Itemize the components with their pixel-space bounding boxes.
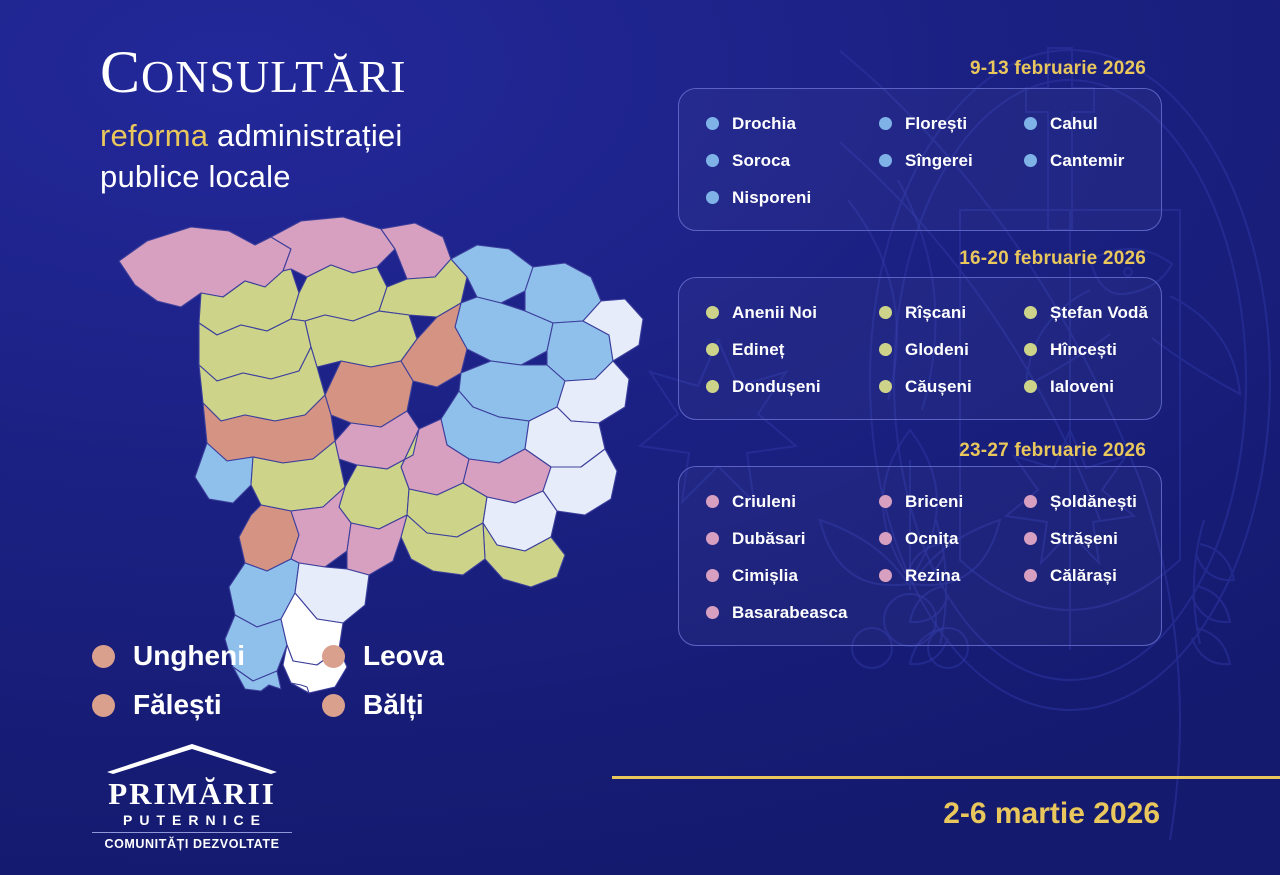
bullet-dot-icon [1024, 343, 1037, 356]
schedule-panel-group-1: DrochiaFloreștiCahulSorocaSîngereiCantem… [678, 88, 1162, 231]
bullet-dot-icon [1024, 569, 1037, 582]
schedule-panel-group-3: CriuleniBriceniȘoldăneștiDubăsariOcnițaS… [678, 466, 1162, 646]
city-grid-group-1: DrochiaFloreștiCahulSorocaSîngereiCantem… [679, 105, 1161, 216]
city-label: Ștefan Vodă [1050, 303, 1148, 323]
city-label: Rezina [905, 566, 960, 586]
city-label: Anenii Noi [732, 303, 817, 323]
city-label: Soroca [732, 151, 790, 171]
city-label: Bălți [363, 689, 424, 721]
page-subtitle: reforma administrației publice locale [100, 116, 660, 198]
bullet-dot-icon [1024, 154, 1037, 167]
city-label: Leova [363, 640, 444, 672]
city-item: Basarabeasca [679, 594, 879, 631]
bullet-dot-icon [322, 694, 345, 717]
city-item: Cahul [1024, 105, 1161, 142]
logo-line-3: COMUNITĂȚI DEZVOLTATE [92, 832, 292, 851]
logo-line-1: PRIMĂRII [92, 778, 292, 809]
page-title-initial: C [100, 39, 141, 105]
city-item: Criuleni [679, 483, 879, 520]
city-item: Dondușeni [679, 368, 879, 405]
map-region-olive-m2 [305, 311, 417, 367]
date-label-final: 2-6 martie 2026 [943, 797, 1160, 831]
bullet-dot-icon [92, 645, 115, 668]
bullet-dot-icon [879, 495, 892, 508]
city-grid-group-3: CriuleniBriceniȘoldăneștiDubăsariOcnițaS… [679, 483, 1161, 631]
bullet-dot-icon [879, 569, 892, 582]
city-item: Nisporeni [679, 179, 879, 216]
city-label: Florești [905, 114, 967, 134]
bullet-dot-icon [1024, 532, 1037, 545]
city-label: Criuleni [732, 492, 796, 512]
bullet-dot-icon [879, 306, 892, 319]
city-label: Glodeni [905, 340, 969, 360]
bullet-dot-icon [1024, 495, 1037, 508]
city-grid-group-2: Anenii NoiRîșcaniȘtefan VodăEdinețGloden… [679, 294, 1161, 405]
city-item: Leova [322, 640, 572, 672]
subtitle-rest: administrației [208, 118, 402, 153]
city-label: Edineț [732, 340, 785, 360]
city-item: Călărași [1024, 557, 1161, 594]
city-label: Hîncești [1050, 340, 1117, 360]
city-label: Cahul [1050, 114, 1098, 134]
city-label: Dubăsari [732, 529, 806, 549]
page-title-block: CONSULTĂRI reforma administrației public… [100, 42, 660, 198]
bullet-dot-icon [706, 191, 719, 204]
bullet-dot-icon [706, 117, 719, 130]
city-item: Cimișlia [679, 557, 879, 594]
city-label: Drochia [732, 114, 796, 134]
city-item: Ungheni [92, 640, 322, 672]
city-item: Ialoveni [1024, 368, 1161, 405]
bullet-dot-icon [879, 343, 892, 356]
bullet-dot-icon [706, 380, 719, 393]
gold-divider [612, 776, 1280, 779]
logo-line-2: PUTERNICE [92, 812, 292, 828]
city-label: Cimișlia [732, 566, 798, 586]
city-label: Basarabeasca [732, 603, 848, 623]
bullet-dot-icon [706, 343, 719, 356]
date-label-group-3: 23-27 februarie 2026 [959, 440, 1146, 462]
page-title: CONSULTĂRI [100, 42, 660, 102]
building-roof-icon [103, 742, 281, 776]
city-item: Ocnița [879, 520, 1024, 557]
bullet-dot-icon [1024, 306, 1037, 319]
city-label: Cantemir [1050, 151, 1125, 171]
bullet-dot-icon [706, 569, 719, 582]
bullet-dot-icon [92, 694, 115, 717]
bullet-dot-icon [879, 117, 892, 130]
city-label: Șoldănești [1050, 492, 1137, 512]
bullet-dot-icon [1024, 117, 1037, 130]
city-item: Hîncești [1024, 331, 1161, 368]
city-item: Strășeni [1024, 520, 1161, 557]
city-item: Fălești [92, 689, 322, 721]
city-label: Căușeni [905, 377, 972, 397]
city-item: Dubăsari [679, 520, 879, 557]
city-item: Anenii Noi [679, 294, 879, 331]
schedule-group-final: UngheniLeovaFăleștiBălți [92, 640, 572, 721]
subtitle-highlight: reforma [100, 118, 208, 153]
primarii-puternice-logo: PRIMĂRII PUTERNICE COMUNITĂȚI DEZVOLTATE [92, 742, 292, 851]
city-label: Briceni [905, 492, 963, 512]
city-item: Bălți [322, 689, 572, 721]
city-label: Călărași [1050, 566, 1117, 586]
subtitle-line2: publice locale [100, 159, 291, 194]
bullet-dot-icon [706, 606, 719, 619]
bullet-dot-icon [706, 532, 719, 545]
city-item: Soroca [679, 142, 879, 179]
city-item: Cantemir [1024, 142, 1161, 179]
city-grid-final: UngheniLeovaFăleștiBălți [92, 640, 572, 721]
city-item: Rezina [879, 557, 1024, 594]
schedule-column: 9-13 februarie 2026 DrochiaFloreștiCahul… [600, 0, 1280, 875]
city-label: Dondușeni [732, 377, 821, 397]
moldova-districts-map [95, 215, 655, 695]
city-item: Căușeni [879, 368, 1024, 405]
bullet-dot-icon [879, 532, 892, 545]
city-item: Drochia [679, 105, 879, 142]
bullet-dot-icon [322, 645, 345, 668]
city-label: Ocnița [905, 529, 959, 549]
bullet-dot-icon [706, 154, 719, 167]
bullet-dot-icon [706, 495, 719, 508]
city-item: Ștefan Vodă [1024, 294, 1161, 331]
city-label: Nisporeni [732, 188, 811, 208]
city-item: Briceni [879, 483, 1024, 520]
city-item: Rîșcani [879, 294, 1024, 331]
schedule-panel-group-2: Anenii NoiRîșcaniȘtefan VodăEdinețGloden… [678, 277, 1162, 420]
page-title-rest: ONSULTĂRI [141, 51, 406, 102]
city-item: Glodeni [879, 331, 1024, 368]
bullet-dot-icon [706, 306, 719, 319]
bullet-dot-icon [879, 380, 892, 393]
poster-canvas: CONSULTĂRI reforma administrației public… [0, 0, 1280, 875]
city-item: Șoldănești [1024, 483, 1161, 520]
city-label: Ungheni [133, 640, 245, 672]
bullet-dot-icon [879, 154, 892, 167]
city-item: Edineț [679, 331, 879, 368]
date-label-group-2: 16-20 februarie 2026 [959, 248, 1146, 270]
city-label: Strășeni [1050, 529, 1118, 549]
city-label: Rîșcani [905, 303, 966, 323]
city-label: Fălești [133, 689, 222, 721]
city-item: Florești [879, 105, 1024, 142]
date-label-group-1: 9-13 februarie 2026 [970, 58, 1146, 80]
city-item: Sîngerei [879, 142, 1024, 179]
bullet-dot-icon [1024, 380, 1037, 393]
city-label: Ialoveni [1050, 377, 1114, 397]
city-label: Sîngerei [905, 151, 973, 171]
